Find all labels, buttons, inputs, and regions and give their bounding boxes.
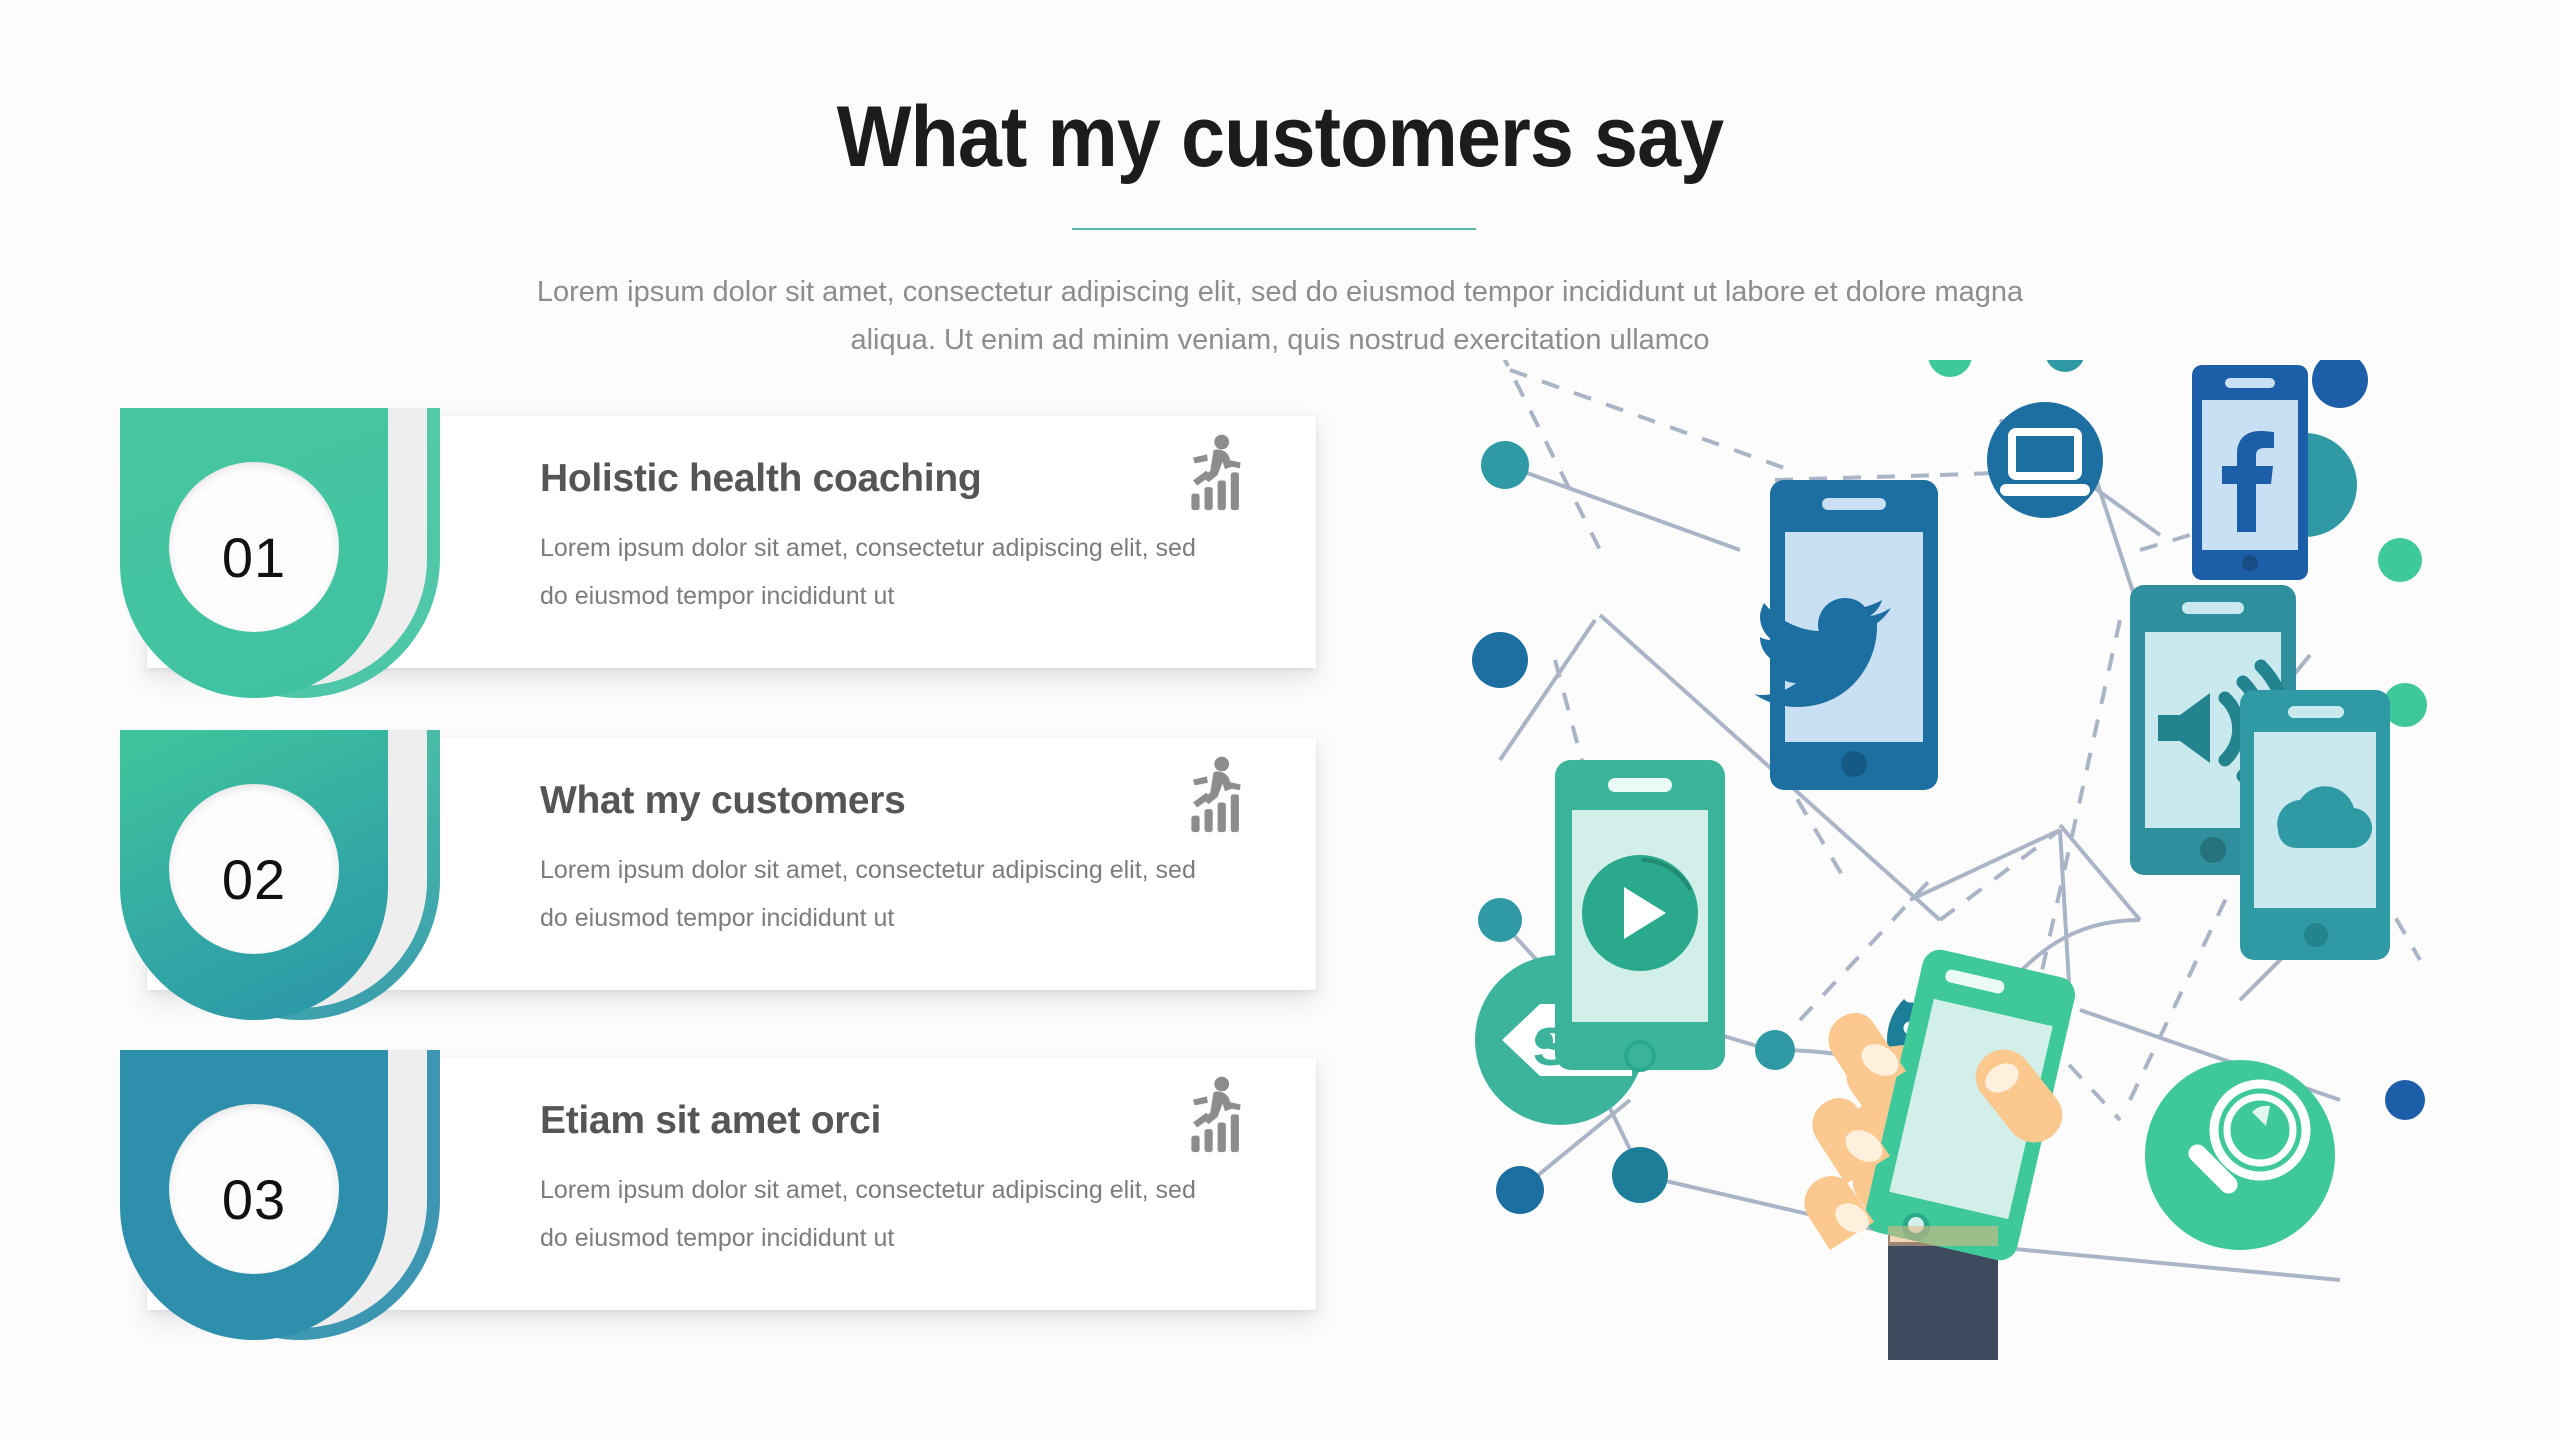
search-magnifier-circle-icon [2145,1060,2335,1250]
feature-card-02[interactable]: 02 What my customers Lorem ipsum dolor s… [120,730,1316,1020]
node-dot-teal [1478,898,1522,942]
page-subtitle: Lorem ipsum dolor sit amet, consectetur … [530,268,2030,364]
card-text-block: What my customers Lorem ipsum dolor sit … [540,778,1200,942]
card-number: 02 [120,847,388,912]
node-dot-blue [1472,632,1528,688]
card-body: Lorem ipsum dolor sit amet, consectetur … [540,1166,1200,1262]
node-dot-green [2378,538,2422,582]
node-dot-teal [1481,441,1529,489]
facebook-phone [2192,365,2308,580]
card-heading: Etiam sit amet orci [540,1098,1200,1144]
card-heading: Holistic health coaching [540,456,1200,502]
card-text-block: Etiam sit amet orci Lorem ipsum dolor si… [540,1098,1200,1262]
hand-holding-phone [1804,946,2078,1360]
feature-card-01[interactable]: 01 Holistic health coaching Lorem ipsum … [120,408,1316,698]
card-body: Lorem ipsum dolor sit amet, consectetur … [540,846,1200,942]
slide-root: What my customers say Lorem ipsum dolor … [0,0,2560,1440]
feature-card-03[interactable]: 03 Etiam sit amet orci Lorem ipsum dolor… [120,1050,1316,1340]
cloud-phone [2240,690,2390,960]
title-divider [1072,228,1476,230]
card-number-badge: 02 [120,730,480,1020]
running-man-bars-icon [1175,1075,1257,1157]
node-dot-darkblue [2312,360,2368,408]
video-play-phone [1555,760,1725,1070]
card-number-badge: 03 [120,1050,480,1340]
twitter-phone [1754,480,1938,790]
card-number-badge: 01 [120,408,480,698]
running-man-bars-icon [1175,433,1257,515]
node-dot-darkblue [2385,1080,2425,1120]
page-title: What my customers say [102,88,2457,187]
card-body: Lorem ipsum dolor sit amet, consectetur … [540,524,1200,620]
node-dot-green [1928,360,1972,377]
laptop-circle-icon [1987,402,2103,518]
card-text-block: Holistic health coaching Lorem ipsum dol… [540,456,1200,620]
card-number: 01 [120,525,388,590]
node-dot-blue [1496,1166,1544,1214]
node-dot-teal [1755,1030,1795,1070]
digital-marketing-network-illustration: SEO [1440,360,2440,1360]
running-man-bars-icon [1175,755,1257,837]
card-heading: What my customers [540,778,1200,824]
node-dot-blue [1612,1147,1668,1203]
node-dot-teal [2045,360,2085,372]
card-number: 03 [120,1167,388,1232]
